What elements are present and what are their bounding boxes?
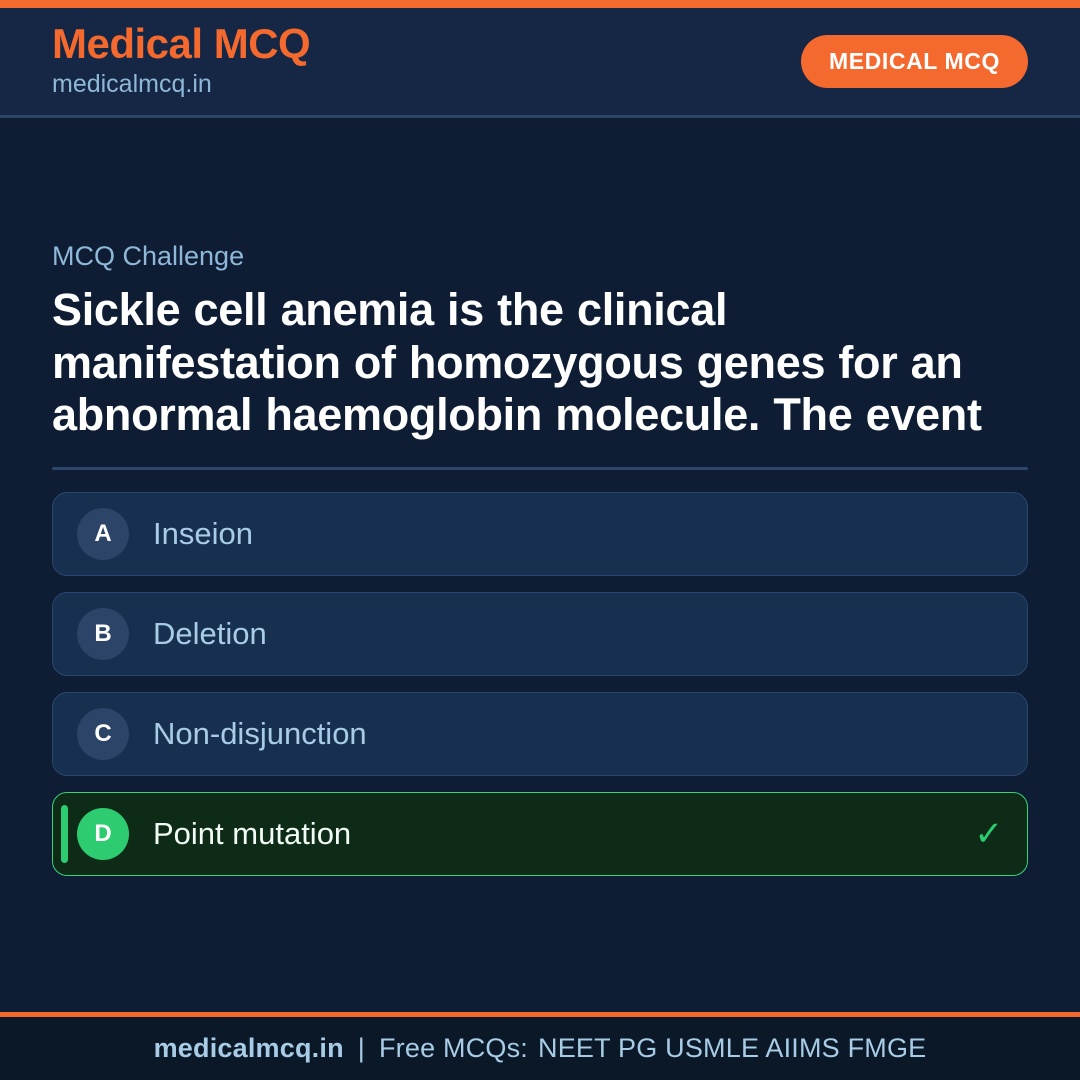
footer: medicalmcq.in|Free MCQs:NEET PG USMLE AI… bbox=[0, 1012, 1080, 1080]
mcq-card: Medical MCQ medicalmcq.in MEDICAL MCQ MC… bbox=[0, 0, 1080, 1080]
option-label: Point mutation bbox=[153, 817, 351, 851]
footer-separator: | bbox=[344, 1033, 379, 1063]
option-letter-badge: B bbox=[77, 608, 129, 660]
main-content: MCQ Challenge Sickle cell anemia is the … bbox=[0, 118, 1080, 1012]
footer-exams-label: Free MCQs: bbox=[379, 1033, 528, 1063]
header: Medical MCQ medicalmcq.in MEDICAL MCQ bbox=[0, 8, 1080, 118]
options-list: A Inseion B Deletion C Non-disjunction D… bbox=[52, 492, 1028, 876]
top-accent-bar bbox=[0, 0, 1080, 8]
option-a[interactable]: A Inseion bbox=[52, 492, 1028, 576]
footer-text: medicalmcq.in|Free MCQs:NEET PG USMLE AI… bbox=[154, 1033, 927, 1064]
brand-title: Medical MCQ bbox=[52, 22, 310, 66]
brand: Medical MCQ medicalmcq.in bbox=[52, 22, 310, 100]
question-kicker: MCQ Challenge bbox=[52, 240, 1028, 272]
option-letter-badge: A bbox=[77, 508, 129, 560]
footer-site: medicalmcq.in bbox=[154, 1033, 344, 1063]
question-divider bbox=[52, 467, 1028, 470]
header-badge: MEDICAL MCQ bbox=[801, 35, 1028, 88]
option-c[interactable]: C Non-disjunction bbox=[52, 692, 1028, 776]
question-block: MCQ Challenge Sickle cell anemia is the … bbox=[52, 240, 1028, 470]
option-b[interactable]: B Deletion bbox=[52, 592, 1028, 676]
footer-exams: NEET PG USMLE AIIMS FMGE bbox=[528, 1033, 926, 1063]
check-icon: ✓ bbox=[975, 817, 1004, 851]
option-label: Deletion bbox=[153, 617, 267, 651]
option-d[interactable]: D Point mutation ✓ bbox=[52, 792, 1028, 876]
correct-accent-bar bbox=[61, 805, 68, 863]
brand-subtitle: medicalmcq.in bbox=[52, 69, 310, 100]
option-label: Non-disjunction bbox=[153, 717, 367, 751]
option-label: Inseion bbox=[153, 517, 253, 551]
question-text: Sickle cell anemia is the clinical manif… bbox=[52, 284, 1028, 441]
option-letter-badge: C bbox=[77, 708, 129, 760]
option-letter-badge: D bbox=[77, 808, 129, 860]
